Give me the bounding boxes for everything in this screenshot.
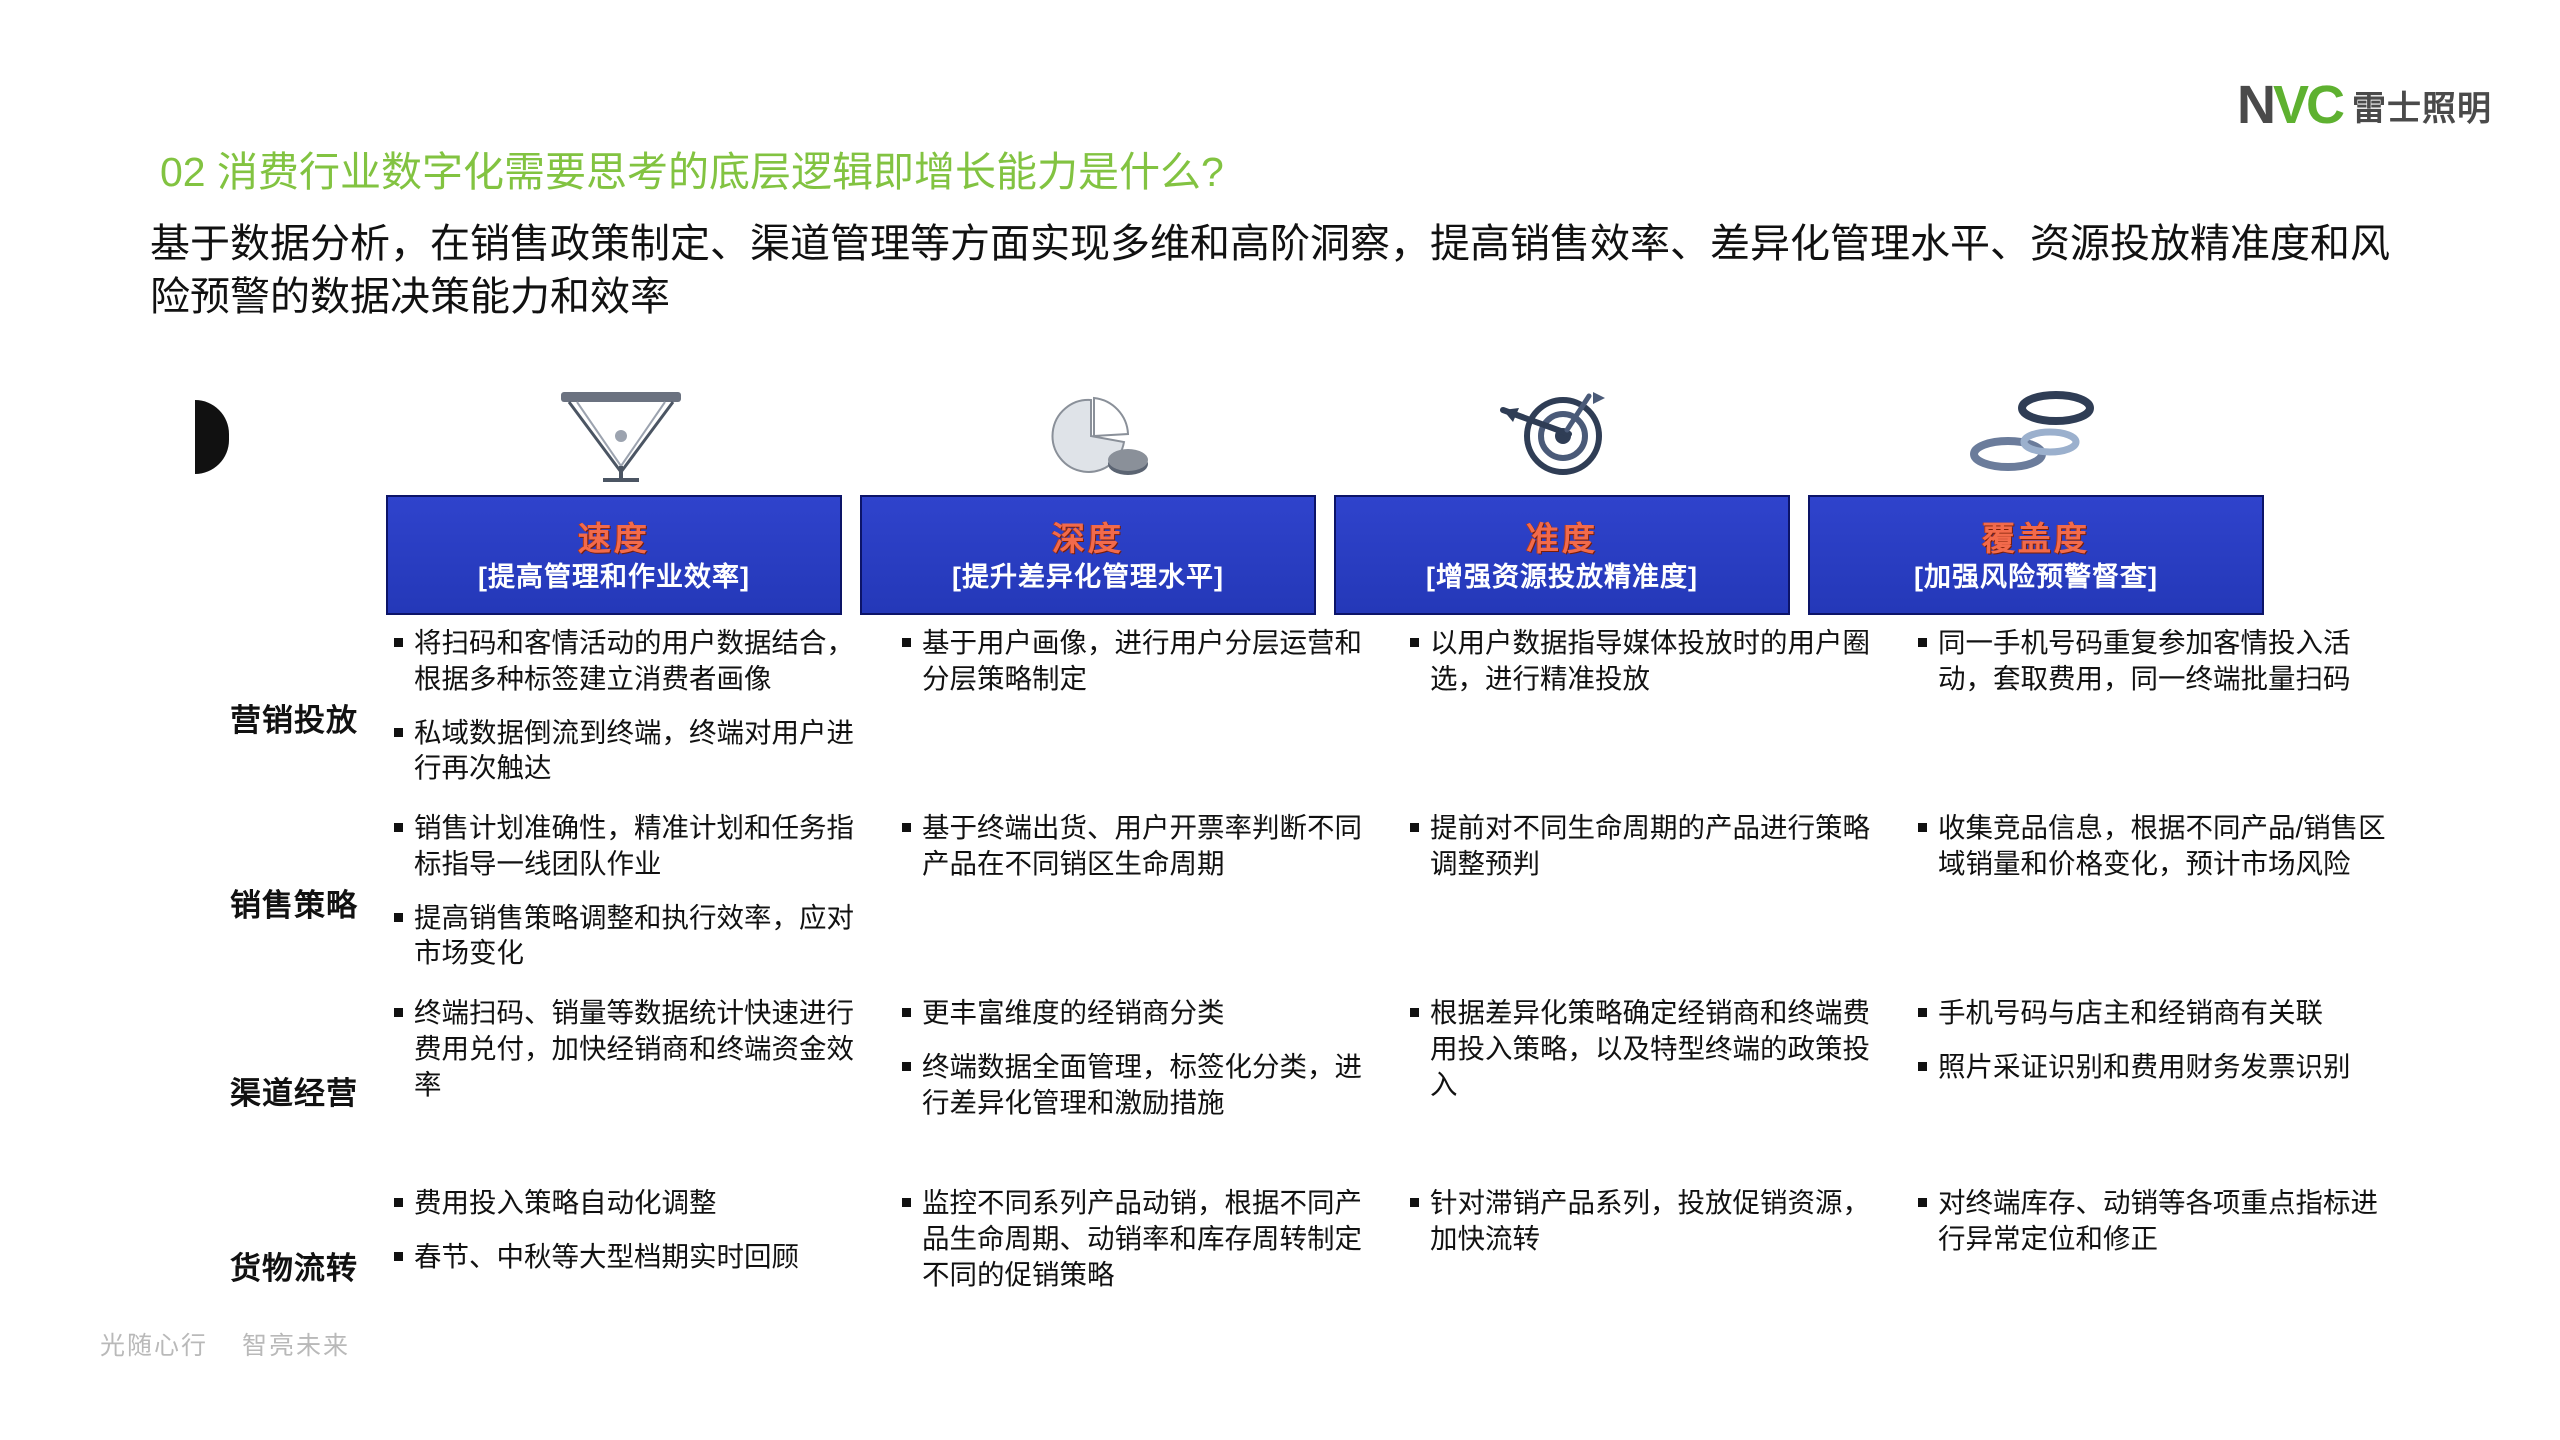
bullet-item: 将扫码和客情活动的用户数据结合，根据多种标签建立消费者画像	[390, 625, 876, 697]
table-row: 销售策略 销售计划准确性，精准计划和任务指标指导一线团队作业 提高销售策略调整和…	[200, 810, 2400, 995]
row-label: 营销投放	[200, 625, 386, 810]
coverage-rings-icon	[1796, 372, 2266, 490]
bullet-item: 同一手机号码重复参加客情投入活动，套取费用，同一终端批量扫码	[1914, 625, 2400, 697]
row-cells: 费用投入策略自动化调整 春节、中秋等大型档期实时回顾 监控不同系列产品动销，根据…	[386, 1185, 2400, 1292]
pie-chart-icon	[856, 372, 1326, 490]
footer-slogan-right: 智亮未来	[242, 1326, 350, 1362]
column-subtitle: [加强风险预警督查]	[1914, 561, 2158, 593]
bullet-item: 手机号码与店主和经销商有关联	[1914, 995, 2400, 1031]
matrix-grid: 营销投放 将扫码和客情活动的用户数据结合，根据多种标签建立消费者画像 私域数据倒…	[200, 625, 2400, 1345]
column-header-depth[interactable]: 深度 [提升差异化管理水平]	[860, 495, 1316, 615]
cell-r4c3: 针对滞销产品系列，投放促销资源，加快流转	[1402, 1185, 1892, 1292]
bullet-item: 提前对不同生命周期的产品进行策略调整预判	[1406, 810, 1892, 882]
slide-root: NVC 雷士照明 02 消费行业数字化需要思考的底层逻辑即增长能力是什么? 基于…	[0, 0, 2560, 1440]
cell-r2c2: 基于终端出货、用户开票率判断不同产品在不同销区生命周期	[894, 810, 1384, 971]
cell-r2c4: 收集竞品信息，根据不同产品/销售区域销量和价格变化，预计市场风险	[1910, 810, 2400, 971]
column-header-accuracy[interactable]: 准度 [增强资源投放精准度]	[1334, 495, 1790, 615]
cell-r2c1: 销售计划准确性，精准计划和任务指标指导一线团队作业 提高销售策略调整和执行效率，…	[386, 810, 876, 971]
brand-logo: NVC 雷士照明	[2237, 78, 2492, 132]
column-header-speed[interactable]: 速度 [提高管理和作业效率]	[386, 495, 842, 615]
bullet-item: 提高销售策略调整和执行效率，应对市场变化	[390, 900, 876, 972]
bullet-item: 终端数据全面管理，标签化分类，进行差异化管理和激励措施	[898, 1049, 1384, 1121]
column-title: 深度	[1052, 521, 1124, 557]
bullet-item: 春节、中秋等大型档期实时回顾	[390, 1239, 876, 1275]
column-title: 准度	[1526, 521, 1598, 557]
cell-r1c1: 将扫码和客情活动的用户数据结合，根据多种标签建立消费者画像 私域数据倒流到终端，…	[386, 625, 876, 786]
column-header-band: 速度 [提高管理和作业效率] 深度 [提升差异化管理水平] 准度 [增强资源投放…	[386, 495, 2264, 615]
footer-slogan-left: 光随心行	[100, 1326, 208, 1362]
bullet-item: 销售计划准确性，精准计划和任务指标指导一线团队作业	[390, 810, 876, 882]
bullet-item: 针对滞销产品系列，投放促销资源，加快流转	[1406, 1185, 1892, 1257]
cell-r3c4: 手机号码与店主和经销商有关联 照片采证识别和费用财务发票识别	[1910, 995, 2400, 1120]
cell-r3c2: 更丰富维度的经销商分类 终端数据全面管理，标签化分类，进行差异化管理和激励措施	[894, 995, 1384, 1120]
page-subtitle: 基于数据分析，在销售政策制定、渠道管理等方面实现多维和高阶洞察，提高销售效率、差…	[150, 218, 2400, 324]
row-cells: 终端扫码、销量等数据统计快速进行费用兑付，加快经销商和终端资金效率 更丰富维度的…	[386, 995, 2400, 1120]
cell-r3c3: 根据差异化策略确定经销商和终端费用投入策略，以及特型终端的政策投入	[1402, 995, 1892, 1120]
column-title: 速度	[578, 521, 650, 557]
row-label: 货物流转	[200, 1185, 386, 1345]
cell-r1c4: 同一手机号码重复参加客情投入活动，套取费用，同一终端批量扫码	[1910, 625, 2400, 786]
bullet-item: 根据差异化策略确定经销商和终端费用投入策略，以及特型终端的政策投入	[1406, 995, 1892, 1102]
decorative-arc-shape	[195, 400, 229, 474]
bullet-item: 私域数据倒流到终端，终端对用户进行再次触达	[390, 715, 876, 787]
cell-r1c3: 以用户数据指导媒体投放时的用户圈选，进行精准投放	[1402, 625, 1892, 786]
bullet-item: 更丰富维度的经销商分类	[898, 995, 1384, 1031]
projector-screen-icon	[386, 372, 856, 490]
cell-r3c1: 终端扫码、销量等数据统计快速进行费用兑付，加快经销商和终端资金效率	[386, 995, 876, 1120]
cell-r1c2: 基于用户画像，进行用户分层运营和分层策略制定	[894, 625, 1384, 786]
column-header-coverage[interactable]: 覆盖度 [加强风险预警督查]	[1808, 495, 2264, 615]
row-label: 销售策略	[200, 810, 386, 995]
bullet-item: 对终端库存、动销等各项重点指标进行异常定位和修正	[1914, 1185, 2400, 1257]
bullet-item: 基于终端出货、用户开票率判断不同产品在不同销区生命周期	[898, 810, 1384, 882]
cell-r4c2: 监控不同系列产品动销，根据不同产品生命周期、动销率和库存周转制定不同的促销策略	[894, 1185, 1384, 1292]
target-arrow-icon	[1326, 372, 1796, 490]
footer-slogan: 光随心行 智亮未来	[100, 1326, 350, 1362]
row-label: 渠道经营	[200, 995, 386, 1185]
bullet-item: 收集竞品信息，根据不同产品/销售区域销量和价格变化，预计市场风险	[1914, 810, 2400, 882]
table-row: 货物流转 费用投入策略自动化调整 春节、中秋等大型档期实时回顾 监控不同系列产品…	[200, 1185, 2400, 1345]
column-subtitle: [提升差异化管理水平]	[952, 561, 1224, 593]
bullet-item: 以用户数据指导媒体投放时的用户圈选，进行精准投放	[1406, 625, 1892, 697]
cell-r4c4: 对终端库存、动销等各项重点指标进行异常定位和修正	[1910, 1185, 2400, 1292]
column-title: 覆盖度	[1982, 521, 2090, 557]
page-title: 02 消费行业数字化需要思考的底层逻辑即增长能力是什么?	[160, 138, 1224, 198]
bullet-item: 监控不同系列产品动销，根据不同产品生命周期、动销率和库存周转制定不同的促销策略	[898, 1185, 1384, 1292]
brand-name-cn: 雷士照明	[2352, 81, 2492, 130]
table-row: 营销投放 将扫码和客情活动的用户数据结合，根据多种标签建立消费者画像 私域数据倒…	[200, 625, 2400, 810]
bullet-item: 照片采证识别和费用财务发票识别	[1914, 1049, 2400, 1085]
row-cells: 销售计划准确性，精准计划和任务指标指导一线团队作业 提高销售策略调整和执行效率，…	[386, 810, 2400, 971]
bullet-item: 费用投入策略自动化调整	[390, 1185, 876, 1221]
row-cells: 将扫码和客情活动的用户数据结合，根据多种标签建立消费者画像 私域数据倒流到终端，…	[386, 625, 2400, 786]
bullet-item: 基于用户画像，进行用户分层运营和分层策略制定	[898, 625, 1384, 697]
nvc-logo-icon: NVC	[2237, 78, 2342, 132]
cell-r4c1: 费用投入策略自动化调整 春节、中秋等大型档期实时回顾	[386, 1185, 876, 1292]
column-subtitle: [提高管理和作业效率]	[478, 561, 750, 593]
column-subtitle: [增强资源投放精准度]	[1426, 561, 1698, 593]
icon-strip	[386, 372, 2266, 490]
table-row: 渠道经营 终端扫码、销量等数据统计快速进行费用兑付，加快经销商和终端资金效率 更…	[200, 995, 2400, 1185]
bullet-item: 终端扫码、销量等数据统计快速进行费用兑付，加快经销商和终端资金效率	[390, 995, 876, 1102]
cell-r2c3: 提前对不同生命周期的产品进行策略调整预判	[1402, 810, 1892, 971]
